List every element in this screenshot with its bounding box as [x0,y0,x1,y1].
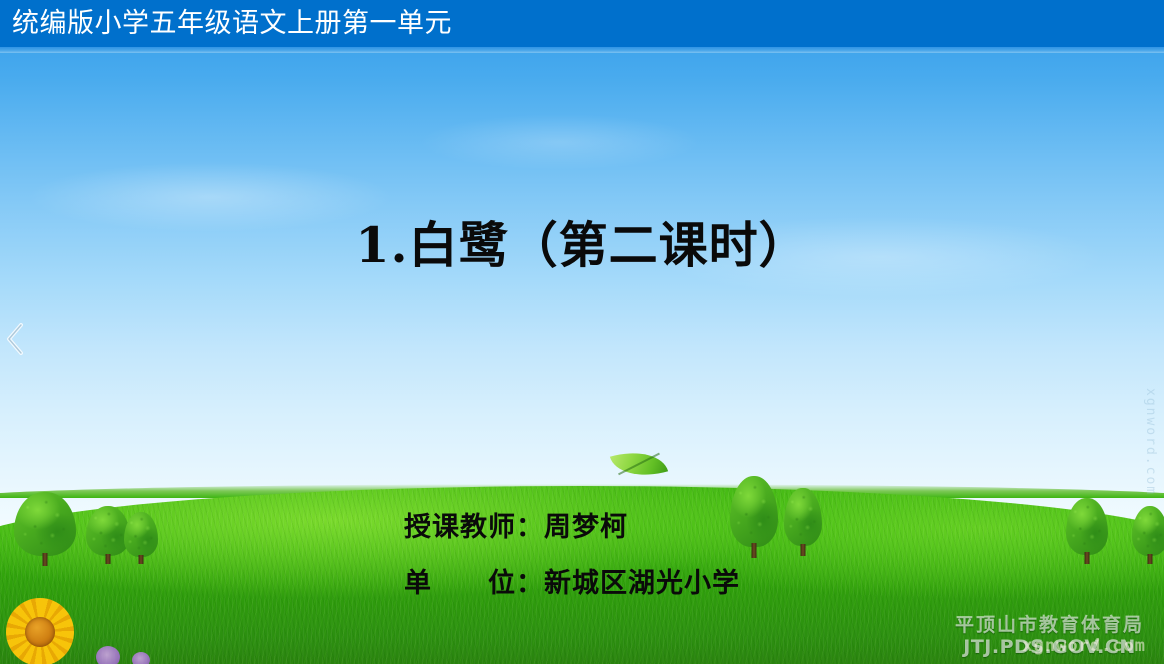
header-bar: 统编版小学五年级语文上册第一单元 [0,0,1164,47]
tree-crown-icon [1132,506,1164,556]
tree-trunk [106,554,111,564]
tree-trunk [1148,554,1153,564]
tree-right-2 [1132,506,1164,564]
tree-crown-icon [124,512,158,557]
credit-school: 单 位：新城区湖光小学 [404,556,924,612]
tree-right-1 [1066,498,1108,564]
tree-trunk [43,553,48,566]
header-title: 统编版小学五年级语文上册第一单元 [12,6,452,40]
credits-block: 授课教师：周梦柯 单 位：新城区湖光小学 [404,500,924,612]
tree-left-1 [14,492,76,566]
tree-crown-icon [1066,498,1108,555]
chevron-left-icon [4,322,26,356]
small-flower-2-icon [132,652,150,664]
tree-trunk [1085,552,1090,564]
sunflower-icon [6,598,80,664]
tree-crown-icon [14,492,76,556]
tree-left-3 [124,512,158,564]
small-flower-1-icon [96,646,120,664]
header-underline [0,47,1164,53]
presentation-slide: 统编版小学五年级语文上册第一单元 1.白鹭（第二课时） 授课教师：周梦柯 单 位… [0,0,1164,664]
previous-slide-button[interactable] [2,318,28,360]
credit-teacher: 授课教师：周梦柯 [404,500,924,556]
sunflower-center [25,617,55,647]
tree-trunk [139,555,144,564]
slide-main-title: 1.白鹭（第二课时） [0,210,1164,280]
